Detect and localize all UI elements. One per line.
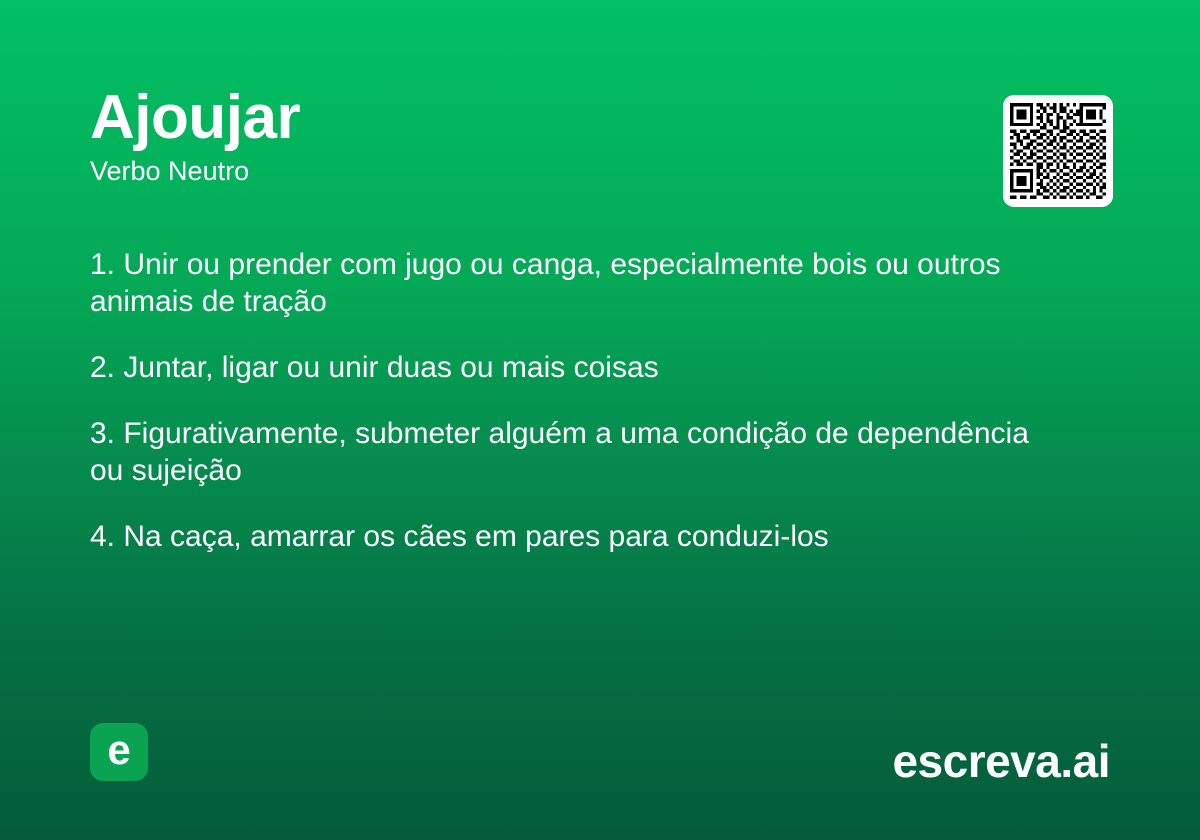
definition-item: 1. Unir ou prender com jugo ou canga, es… [90,246,1040,320]
qr-code[interactable] [1003,95,1113,207]
definition-item: 3. Figurativamente, submeter alguém a um… [90,415,1040,489]
brand-wordmark: escreva.ai [892,738,1110,784]
word-class-label: Verbo Neutro [90,157,950,187]
escreva-logo-badge[interactable]: e [90,723,148,781]
card-footer: e escreva.ai [0,710,1200,840]
qr-code-icon [1010,103,1106,199]
word-title: Ajoujar [90,86,950,149]
dictionary-card: Ajoujar Verbo Neutro 1. Unir ou prender … [0,0,1200,840]
logo-letter: e [107,729,130,771]
definition-item: 2. Juntar, ligar ou unir duas ou mais co… [90,349,1040,386]
definition-item: 4. Na caça, amarrar os cães em pares par… [90,518,1040,555]
definition-list: 1. Unir ou prender com jugo ou canga, es… [90,246,1050,555]
card-header: Ajoujar Verbo Neutro [90,86,950,187]
